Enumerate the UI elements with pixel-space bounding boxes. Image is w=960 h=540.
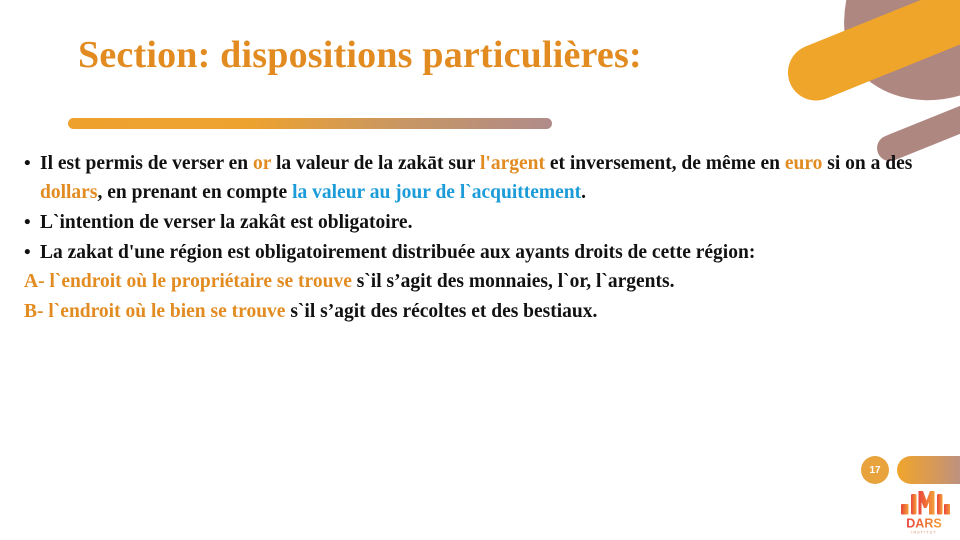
paragraph-b-highlight: B- l`endroit où le bien se trouve (24, 301, 285, 322)
paragraph-a-rest: s`il s’agit des monnaies, l`or, l`argent… (352, 271, 675, 292)
bullet-1-seg-7: dollars (40, 182, 97, 203)
logo-wordmark: DARS (906, 517, 941, 531)
slide: Section: dispositions particulières: • I… (0, 0, 960, 540)
bullet-icon: • (24, 239, 40, 267)
list-item: • La zakat d'une région est obligatoirem… (24, 239, 944, 268)
list-item: • Il est permis de verser en or la valeu… (24, 150, 944, 208)
orange-bar-shape (780, 0, 960, 109)
bullet-1-seg-10: . (581, 182, 586, 203)
page-number-badge: 17 (861, 456, 889, 484)
bullet-1-seg-8: , en prenant en compte (97, 182, 292, 203)
bullet-1-seg-5: euro (785, 153, 823, 174)
bullet-1-seg-6: si on a des (822, 153, 912, 174)
bullet-1-seg-2: la valeur de la zakāt sur (271, 153, 480, 174)
bullet-2-text: L`intention de verser la zakât est oblig… (40, 209, 944, 238)
paragraph-a: A- l`endroit où le propriétaire se trouv… (24, 268, 944, 297)
bullet-icon: • (24, 209, 40, 237)
bullet-1-text: Il est permis de verser en or la valeur … (40, 150, 944, 208)
paragraph-b-rest: s`il s’agit des récoltes et des bestiaux… (285, 301, 597, 322)
paragraph-b: B- l`endroit où le bien se trouve s`il s… (24, 298, 944, 327)
title-underline-rule (68, 118, 552, 129)
dars-institut-logo: DARS INSTITUT (898, 487, 950, 535)
paragraph-a-highlight: A- l`endroit où le propriétaire se trouv… (24, 271, 352, 292)
footer-pill-shape (897, 456, 960, 484)
list-item: • L`intention de verser la zakât est obl… (24, 209, 944, 238)
logo-subtitle: INSTITUT (911, 531, 936, 535)
mauve-blob-shape (830, 0, 960, 112)
slide-body: • Il est permis de verser en or la valeu… (24, 150, 944, 328)
bullet-3-text: La zakat d'une région est obligatoiremen… (40, 239, 944, 268)
bullet-1-seg-0: Il est permis de verser en (40, 153, 253, 174)
mauve-bar-shape (873, 55, 960, 165)
bullet-icon: • (24, 150, 40, 178)
bullet-1-seg-3: l'argent (480, 153, 545, 174)
slide-title: Section: dispositions particulières: (78, 33, 642, 77)
bullet-1-seg-4: et inversement, de même en (545, 153, 785, 174)
bullet-1-seg-1: or (253, 153, 271, 174)
bullet-1-seg-9: la valeur au jour de l`acquittement (292, 182, 581, 203)
